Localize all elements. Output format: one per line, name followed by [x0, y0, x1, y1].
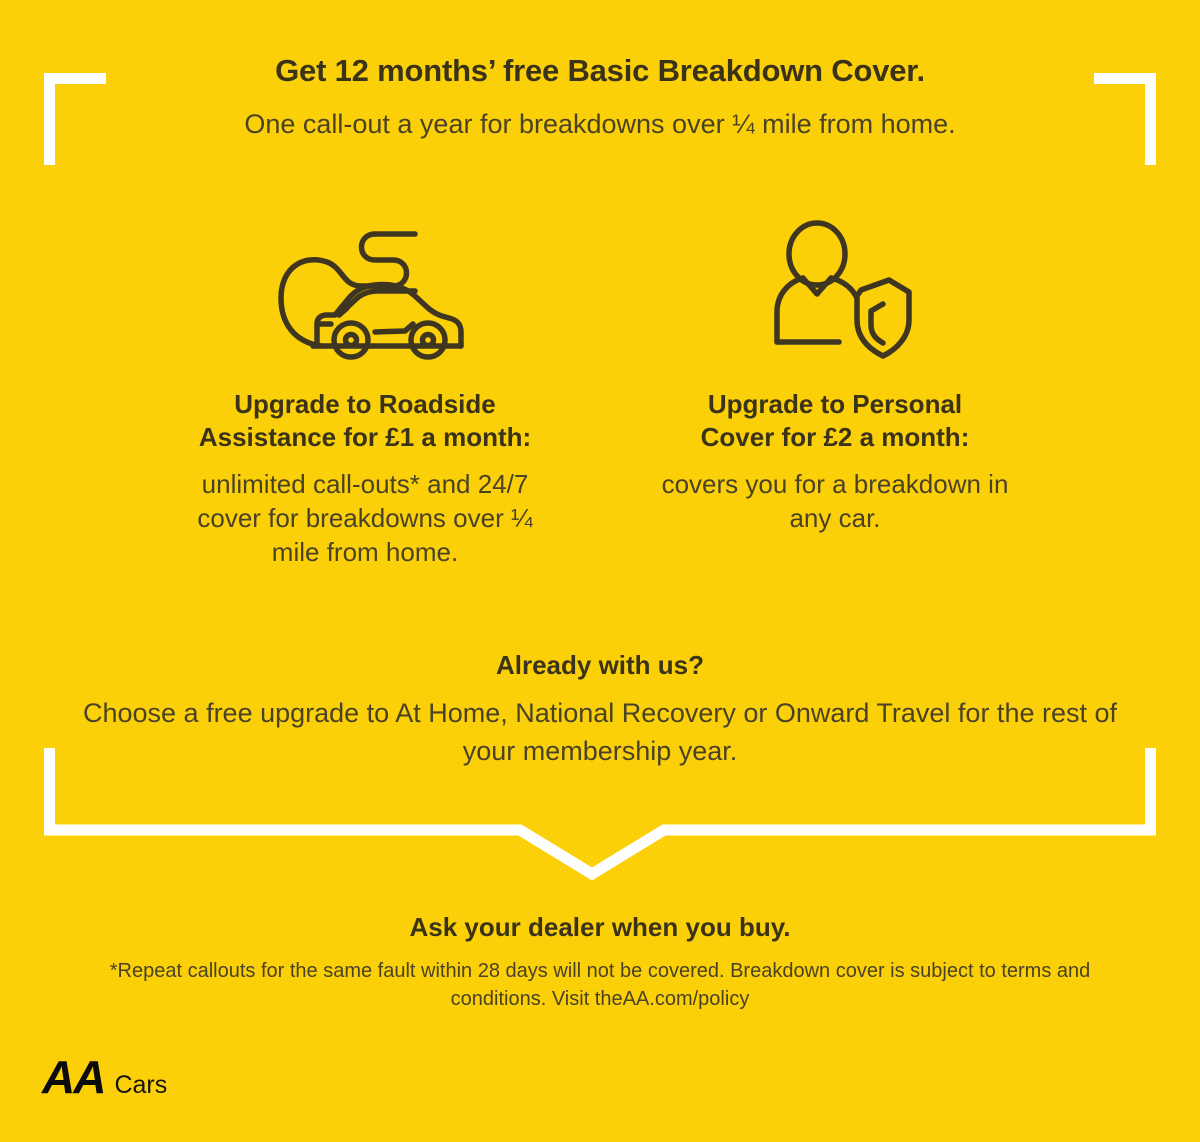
- already-with-us-section: Already with us? Choose a free upgrade t…: [0, 650, 1200, 771]
- feature-body: covers you for a breakdown in any car.: [600, 467, 1070, 536]
- aa-logo-word: Cars: [114, 1073, 167, 1098]
- feature-body: unlimited call-outs* and 24/7 cover for …: [130, 467, 600, 570]
- winding-road-car-icon: [130, 212, 600, 362]
- footer: Ask your dealer when you buy. *Repeat ca…: [0, 912, 1200, 1013]
- feature-personal-cover: Upgrade to Personal Cover for £2 a month…: [600, 212, 1070, 535]
- feature-columns: Upgrade to Roadside Assistance for £1 a …: [0, 212, 1200, 569]
- person-shield-icon: [600, 212, 1070, 362]
- footer-disclaimer: *Repeat callouts for the same fault with…: [0, 957, 1200, 1013]
- page-title: Get 12 months’ free Basic Breakdown Cove…: [0, 52, 1200, 91]
- page-subtitle: One call-out a year for breakdowns over …: [0, 107, 1200, 142]
- aa-logo-mark: AA: [42, 1054, 104, 1100]
- bracket-bottom-notch: [38, 818, 1162, 880]
- feature-heading: Upgrade to Roadside Assistance for £1 a …: [130, 388, 600, 455]
- already-title: Already with us?: [0, 650, 1200, 681]
- header: Get 12 months’ free Basic Breakdown Cove…: [0, 52, 1200, 142]
- feature-roadside-assistance: Upgrade to Roadside Assistance for £1 a …: [130, 212, 600, 569]
- footer-title: Ask your dealer when you buy.: [0, 912, 1200, 943]
- feature-heading: Upgrade to Personal Cover for £2 a month…: [600, 388, 1070, 455]
- infographic-canvas: Get 12 months’ free Basic Breakdown Cove…: [0, 0, 1200, 1142]
- already-body: Choose a free upgrade to At Home, Nation…: [0, 695, 1200, 771]
- aa-cars-logo[interactable]: AA Cars: [42, 1054, 167, 1100]
